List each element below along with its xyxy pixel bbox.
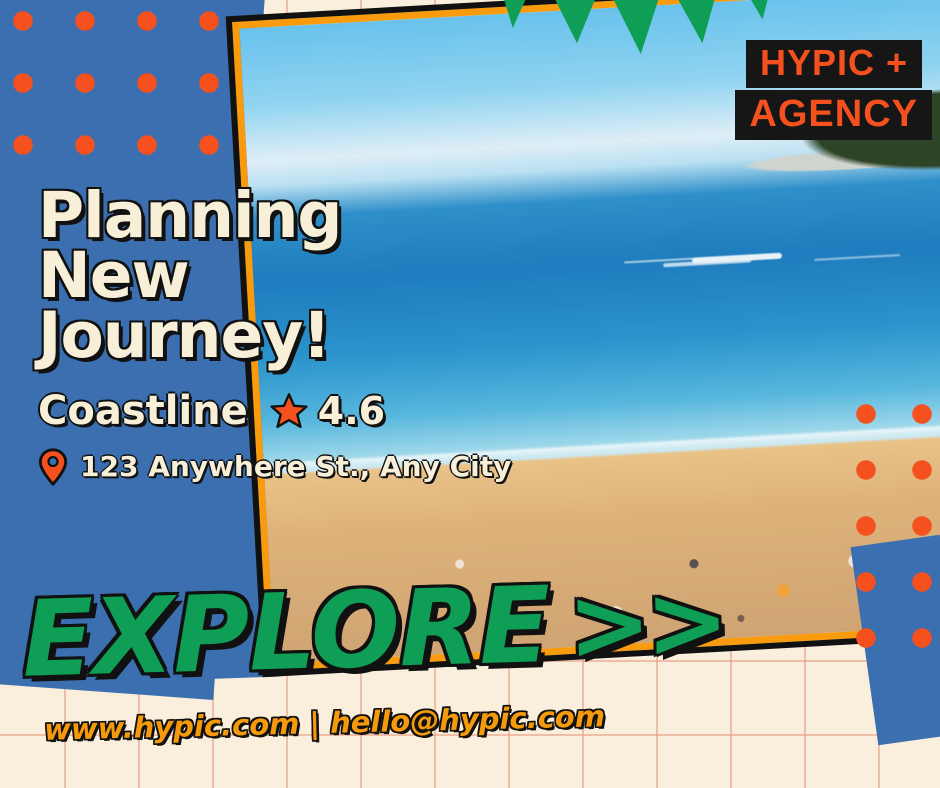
copy-block: Planning New Journey! Coastline 4.6 123 … <box>38 186 458 486</box>
rating-value: 4.6 <box>318 389 385 433</box>
logo-line-2: AGENCY <box>735 90 932 140</box>
brand-logo: HYPIC + AGENCY <box>735 40 922 140</box>
headline-line-3: Journey! <box>38 306 458 366</box>
star-icon <box>270 392 308 430</box>
logo-line-1: HYPIC + <box>746 40 922 88</box>
headline-line-1: Planning <box>38 186 458 246</box>
headline-line-2: New <box>38 246 458 306</box>
orange-dot-grid-top-left <box>0 0 234 192</box>
place-label: Coastline <box>38 388 248 434</box>
place-rating-row: Coastline 4.6 <box>38 388 458 434</box>
address-text: 123 Anywhere St., Any City <box>80 450 511 483</box>
address-row: 123 Anywhere St., Any City <box>38 448 458 486</box>
chevron-right-icon: >> <box>566 571 724 675</box>
explore-cta[interactable]: EXPLORE >> <box>21 568 725 693</box>
poster-canvas: HYPIC + AGENCY Planning New Journey! Coa… <box>0 0 940 788</box>
rating-group: 4.6 <box>270 389 385 433</box>
explore-label: EXPLORE <box>21 573 551 693</box>
map-pin-icon <box>38 448 68 486</box>
orange-dot-grid-right <box>830 378 940 678</box>
